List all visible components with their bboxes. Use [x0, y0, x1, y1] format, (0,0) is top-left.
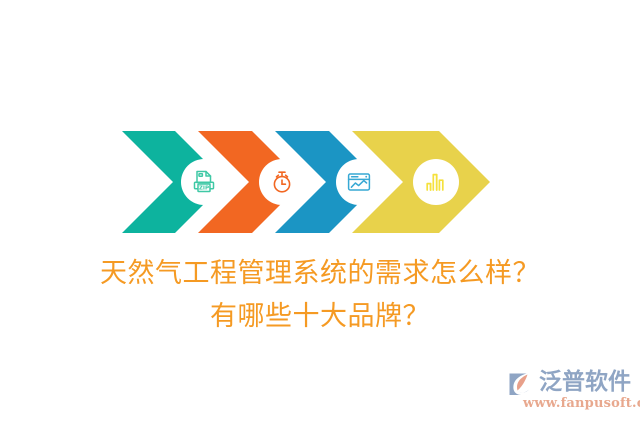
zip-file-icon: ZIP	[191, 169, 217, 195]
headline-line-2: 有哪些十大品牌？	[0, 295, 640, 338]
dashboard-chart-icon	[346, 169, 372, 195]
four-step-chevron-banner: ZIP	[0, 131, 640, 233]
chevron-step-2-icon-badge[interactable]	[259, 159, 305, 205]
headline-text: 天然气工程管理系统的需求怎么样？ 有哪些十大品牌？	[0, 252, 640, 338]
bar-chart-icon	[423, 169, 449, 195]
chevron-step-4-icon-badge[interactable]	[413, 159, 459, 205]
brand-logo[interactable]: 泛普软件 www.fanpusoft.com	[505, 368, 637, 412]
poster-canvas: ZIP	[0, 0, 640, 427]
chevron-step-1-icon-badge[interactable]: ZIP	[181, 159, 227, 205]
stopwatch-icon	[269, 169, 295, 195]
brand-url: www.fanpusoft.com	[523, 396, 640, 411]
headline-line-1: 天然气工程管理系统的需求怎么样？	[0, 252, 640, 295]
svg-text:ZIP: ZIP	[199, 186, 209, 192]
chevron-shapes	[0, 131, 640, 233]
brand-name: 泛普软件	[539, 368, 631, 396]
chevron-step-3-icon-badge[interactable]	[336, 159, 382, 205]
